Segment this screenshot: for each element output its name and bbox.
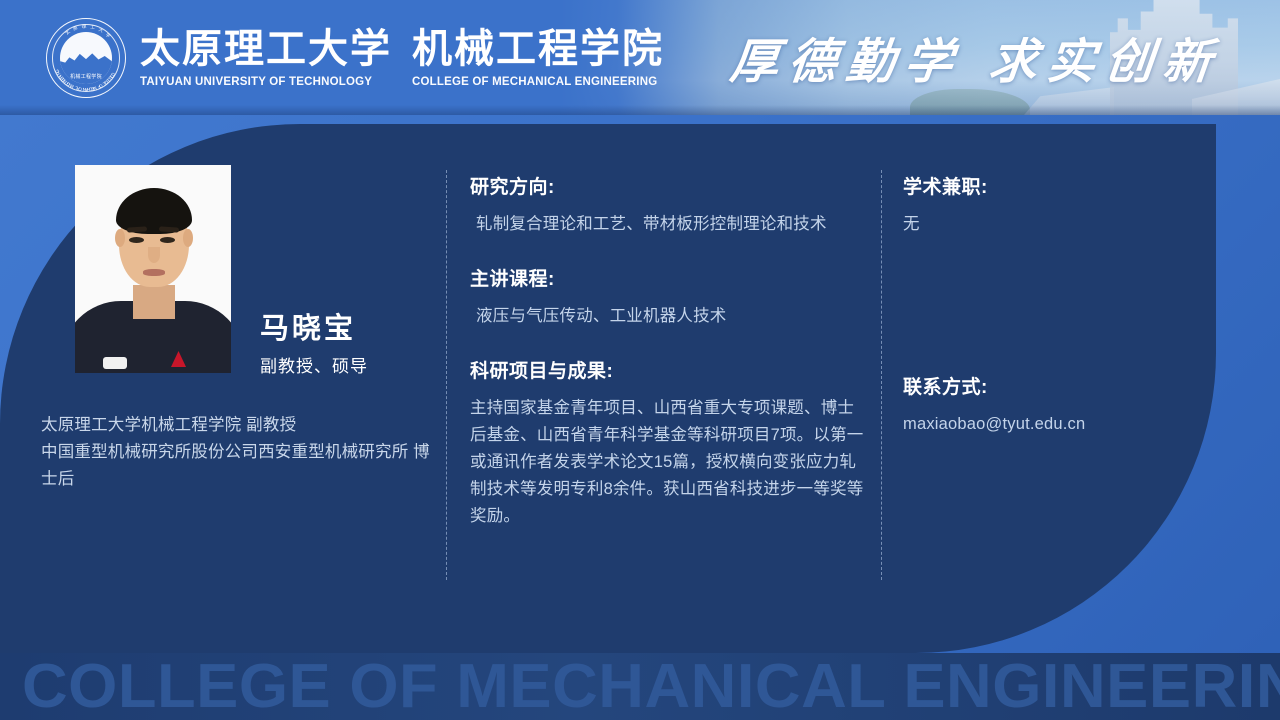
person-name: 马晓宝 [260,305,356,347]
seal-mountain-shape [60,49,112,71]
person-bio: 太原理工大学机械工程学院 副教授 中国重型机械研究所股份公司西安重型机械研究所 … [41,412,431,493]
courses-label: 主讲课程: [470,264,870,291]
college-name-cn: 机械工程学院 [412,29,664,69]
seal-band: 机械工程学院 [60,71,112,84]
contact-email: maxiaobao@tyut.edu.cn [903,411,1253,438]
research-direction-label: 研究方向: [470,172,870,199]
research-direction-text: 轧制复合理论和工艺、带材板形控制理论和技术 [470,211,870,238]
institution-logo: 太原理工大学COLLEGE OF MECHANICAL ENGINEERING … [46,18,664,98]
column-divider-left [446,170,447,580]
portrait-ear-right [183,229,193,247]
portrait-neck [133,285,175,319]
brand-wordmarks: 太原理工大学 TAIYUAN UNIVERSITY OF TECHNOLOGY … [140,29,664,88]
portrait-mouth [143,269,165,276]
projects-label: 科研项目与成果: [470,356,870,383]
appointments-label: 学术兼职: [903,172,1253,199]
right-column: 学术兼职: 无 联系方式: maxiaobao@tyut.edu.cn [903,172,1253,438]
seal-band-label: 机械工程学院 [60,71,112,84]
university-name-en: TAIYUAN UNIVERSITY OF TECHNOLOGY [140,76,392,88]
courses-text: 液压与气压传动、工业机器人技术 [470,303,870,330]
appointments-text: 无 [903,211,1253,238]
footer-bar: COLLEGE OF MECHANICAL ENGINEERING [0,653,1280,720]
portrait-eye-right [160,237,175,243]
seal-inner-emblem: 机械工程学院 [60,32,112,84]
portrait-eye-left [129,237,144,243]
header-banner: 厚德勤学 求实创新 太原理工大学COLLEGE OF MECHANICAL EN… [0,0,1280,115]
slide-root: 厚德勤学 求实创新 太原理工大学COLLEGE OF MECHANICAL EN… [0,0,1280,720]
university-name-cn: 太原理工大学 [140,29,392,69]
middle-column: 研究方向: 轧制复合理论和工艺、带材板形控制理论和技术 主讲课程: 液压与气压传… [470,172,870,530]
right-column-spacer [903,264,1253,372]
college-name-en: COLLEGE OF MECHANICAL ENGINEERING [412,76,664,88]
university-wordmark: 太原理工大学 TAIYUAN UNIVERSITY OF TECHNOLOGY [140,29,392,88]
contact-label: 联系方式: [903,372,1253,399]
calligraphy-motto: 厚德勤学 求实创新 [728,22,1226,92]
portrait-photo [75,165,231,373]
person-title: 副教授、硕导 [260,352,368,377]
portrait-nose [148,247,160,263]
university-seal-icon: 太原理工大学COLLEGE OF MECHANICAL ENGINEERING … [46,18,126,98]
header-bottom-shadow [0,105,1280,115]
portrait-ear-left [115,229,125,247]
college-wordmark: 机械工程学院 COLLEGE OF MECHANICAL ENGINEERING [412,29,664,88]
projects-text: 主持国家基金青年项目、山西省重大专项课题、博士后基金、山西省青年科学基金等科研项… [470,395,870,530]
shirt-logo-white [103,357,127,369]
column-divider-right [881,170,882,580]
footer-college-text: COLLEGE OF MECHANICAL ENGINEERING [22,656,1280,718]
